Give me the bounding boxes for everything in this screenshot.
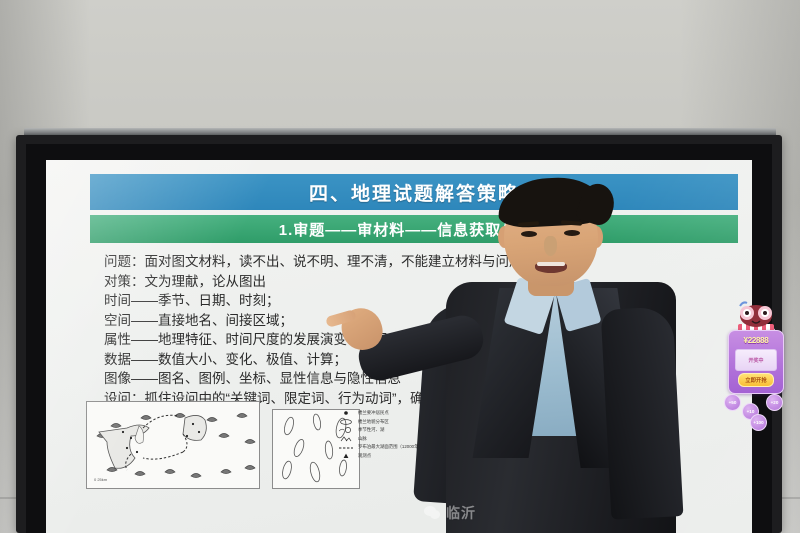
promo-claim-button[interactable]: 立即开抢 [738,373,774,387]
legend-label: 山脉 [358,435,367,444]
promo-bubble[interactable]: +20 [766,394,783,411]
legend-dot-icon [338,410,354,416]
promo-card[interactable]: ¥22888 开奖中 立即开抢 [728,330,784,394]
watermark: 临沂 [424,503,476,523]
presenter-nose [544,236,557,256]
promo-slot-text: 开奖中 [748,357,763,364]
promo-bubble[interactable]: +50 [724,394,741,411]
classroom-scene: 四、地理试题解答策略 1.审题——审材料——信息获取与解读 问题：面对图文材料，… [0,0,800,533]
legend-mountain-icon [338,436,354,442]
presenter-person [400,178,680,533]
legend-label: 楼兰要冲居民点 [358,409,389,418]
legend-dashed-line-icon [338,445,354,451]
legend-triangle-icon [338,453,354,459]
presenter-right-arm [601,306,684,519]
promo-bubble-group: +50 +20 +10 +100 [722,392,788,428]
legend-circle-icon [338,427,354,433]
wechat-icon [424,506,441,520]
legend-label: 楼兰地貌分布区 [358,418,389,427]
legend-label: 季节性河、湖 [358,426,384,435]
promo-mascot-icon [734,300,778,334]
map-svg [87,402,259,488]
promo-slot-display: 开奖中 [735,349,777,371]
legend-ellipse-icon [338,419,354,425]
promo-button-label: 立即开抢 [745,376,767,384]
promo-amount: ¥22888 [729,336,783,345]
watermark-text: 临沂 [446,503,476,523]
presenter-eye-right [564,230,580,236]
map-scalebar-label: 0 25km [94,477,107,482]
promo-overlay-widget[interactable]: ¥22888 开奖中 立即开抢 +50 +20 +10 +100 [722,300,788,428]
presenter-eye-left [521,231,537,237]
legend-label: 观测点 [358,452,371,461]
promo-bubble[interactable]: +100 [750,414,767,431]
presenter-teeth [537,262,565,266]
map-figure-main: 0 25km [86,401,260,489]
